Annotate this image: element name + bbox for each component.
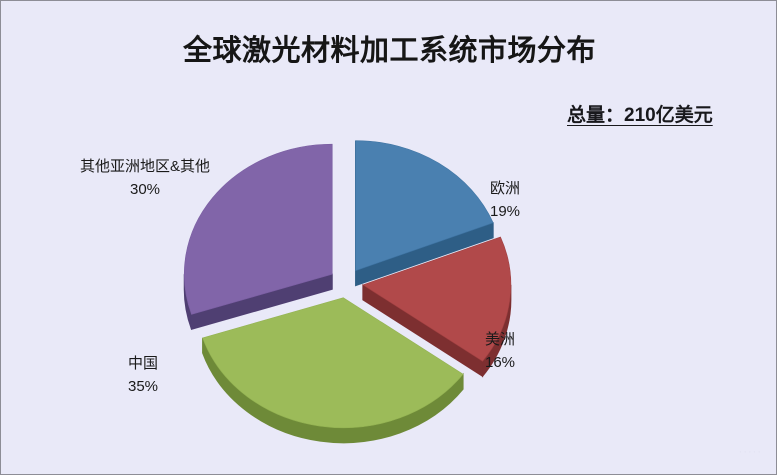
pie-label-europe-name: 欧洲 bbox=[490, 180, 520, 197]
pie-label-other-asia-name: 其他亚洲地区&其他 bbox=[80, 158, 210, 175]
watermark: ····· bbox=[739, 446, 762, 458]
pie-label-other-asia: 其他亚洲地区&其他 30% bbox=[53, 156, 237, 201]
pie-label-china-value: 35% bbox=[79, 376, 207, 399]
pie-label-europe-value: 19% bbox=[447, 201, 563, 224]
pie-label-china-name: 中国 bbox=[128, 355, 158, 372]
chart-container: 全球激光材料加工系统市场分布 总量：210亿美元 其他亚洲地区&其他 30% bbox=[0, 0, 777, 475]
pie-label-americas-name: 美洲 bbox=[485, 331, 515, 348]
pie-label-americas-value: 16% bbox=[437, 352, 563, 375]
pie-label-other-asia-value: 30% bbox=[53, 179, 237, 202]
pie-label-americas: 美洲 16% bbox=[437, 329, 563, 374]
pie-label-china: 中国 35% bbox=[79, 353, 207, 398]
pie-chart-graphic bbox=[1, 1, 777, 475]
pie-label-europe: 欧洲 19% bbox=[447, 178, 563, 223]
